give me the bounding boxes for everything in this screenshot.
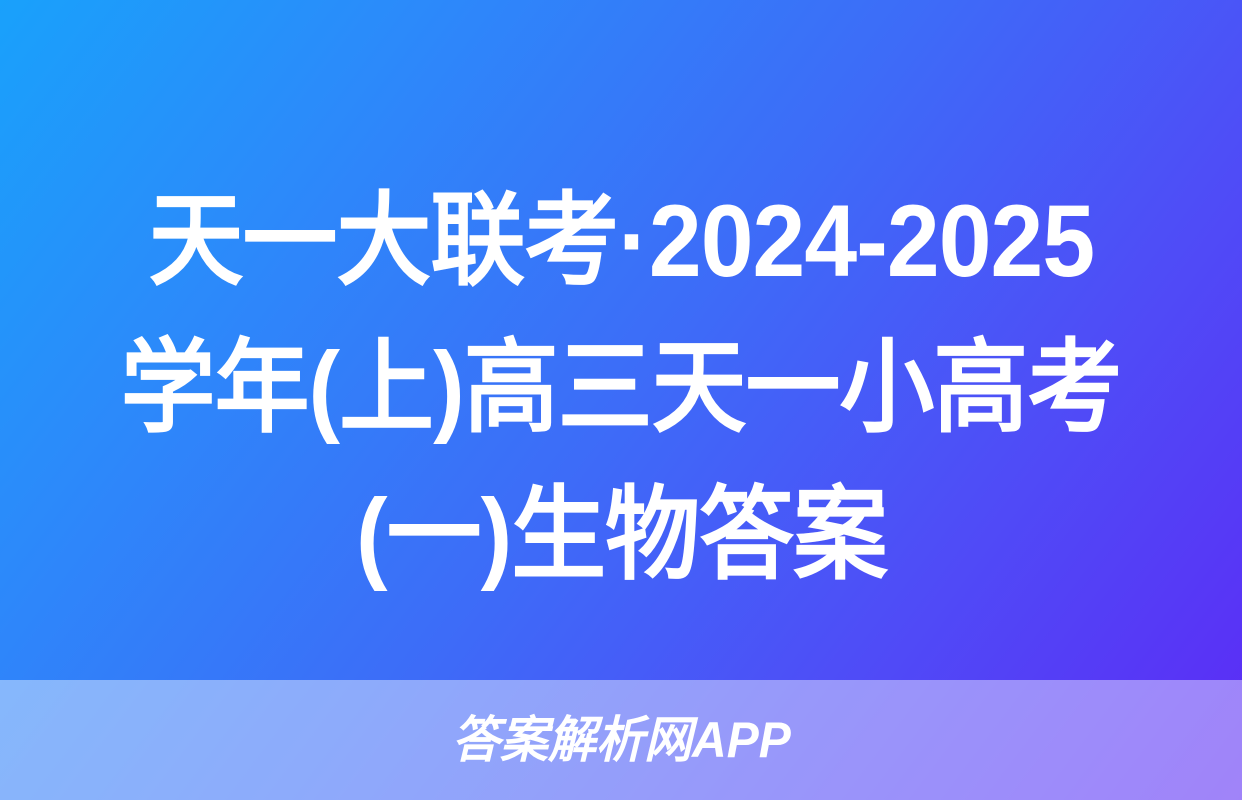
poster-banner: 天一大联考·2024-2025 学年(上)高三天一小高考 (一)生物答案 答案解…	[0, 0, 1242, 800]
title-line-3: (一)生物答案	[356, 462, 887, 609]
title-line-1: 天一大联考·2024-2025	[148, 168, 1094, 315]
app-watermark-label: 答案解析网APP	[452, 715, 791, 765]
title-line-2: 学年(上)高三天一小高考	[121, 315, 1122, 462]
footer-watermark-band: 答案解析网APP	[0, 680, 1242, 800]
page-title: 天一大联考·2024-2025 学年(上)高三天一小高考 (一)生物答案	[0, 168, 1242, 648]
